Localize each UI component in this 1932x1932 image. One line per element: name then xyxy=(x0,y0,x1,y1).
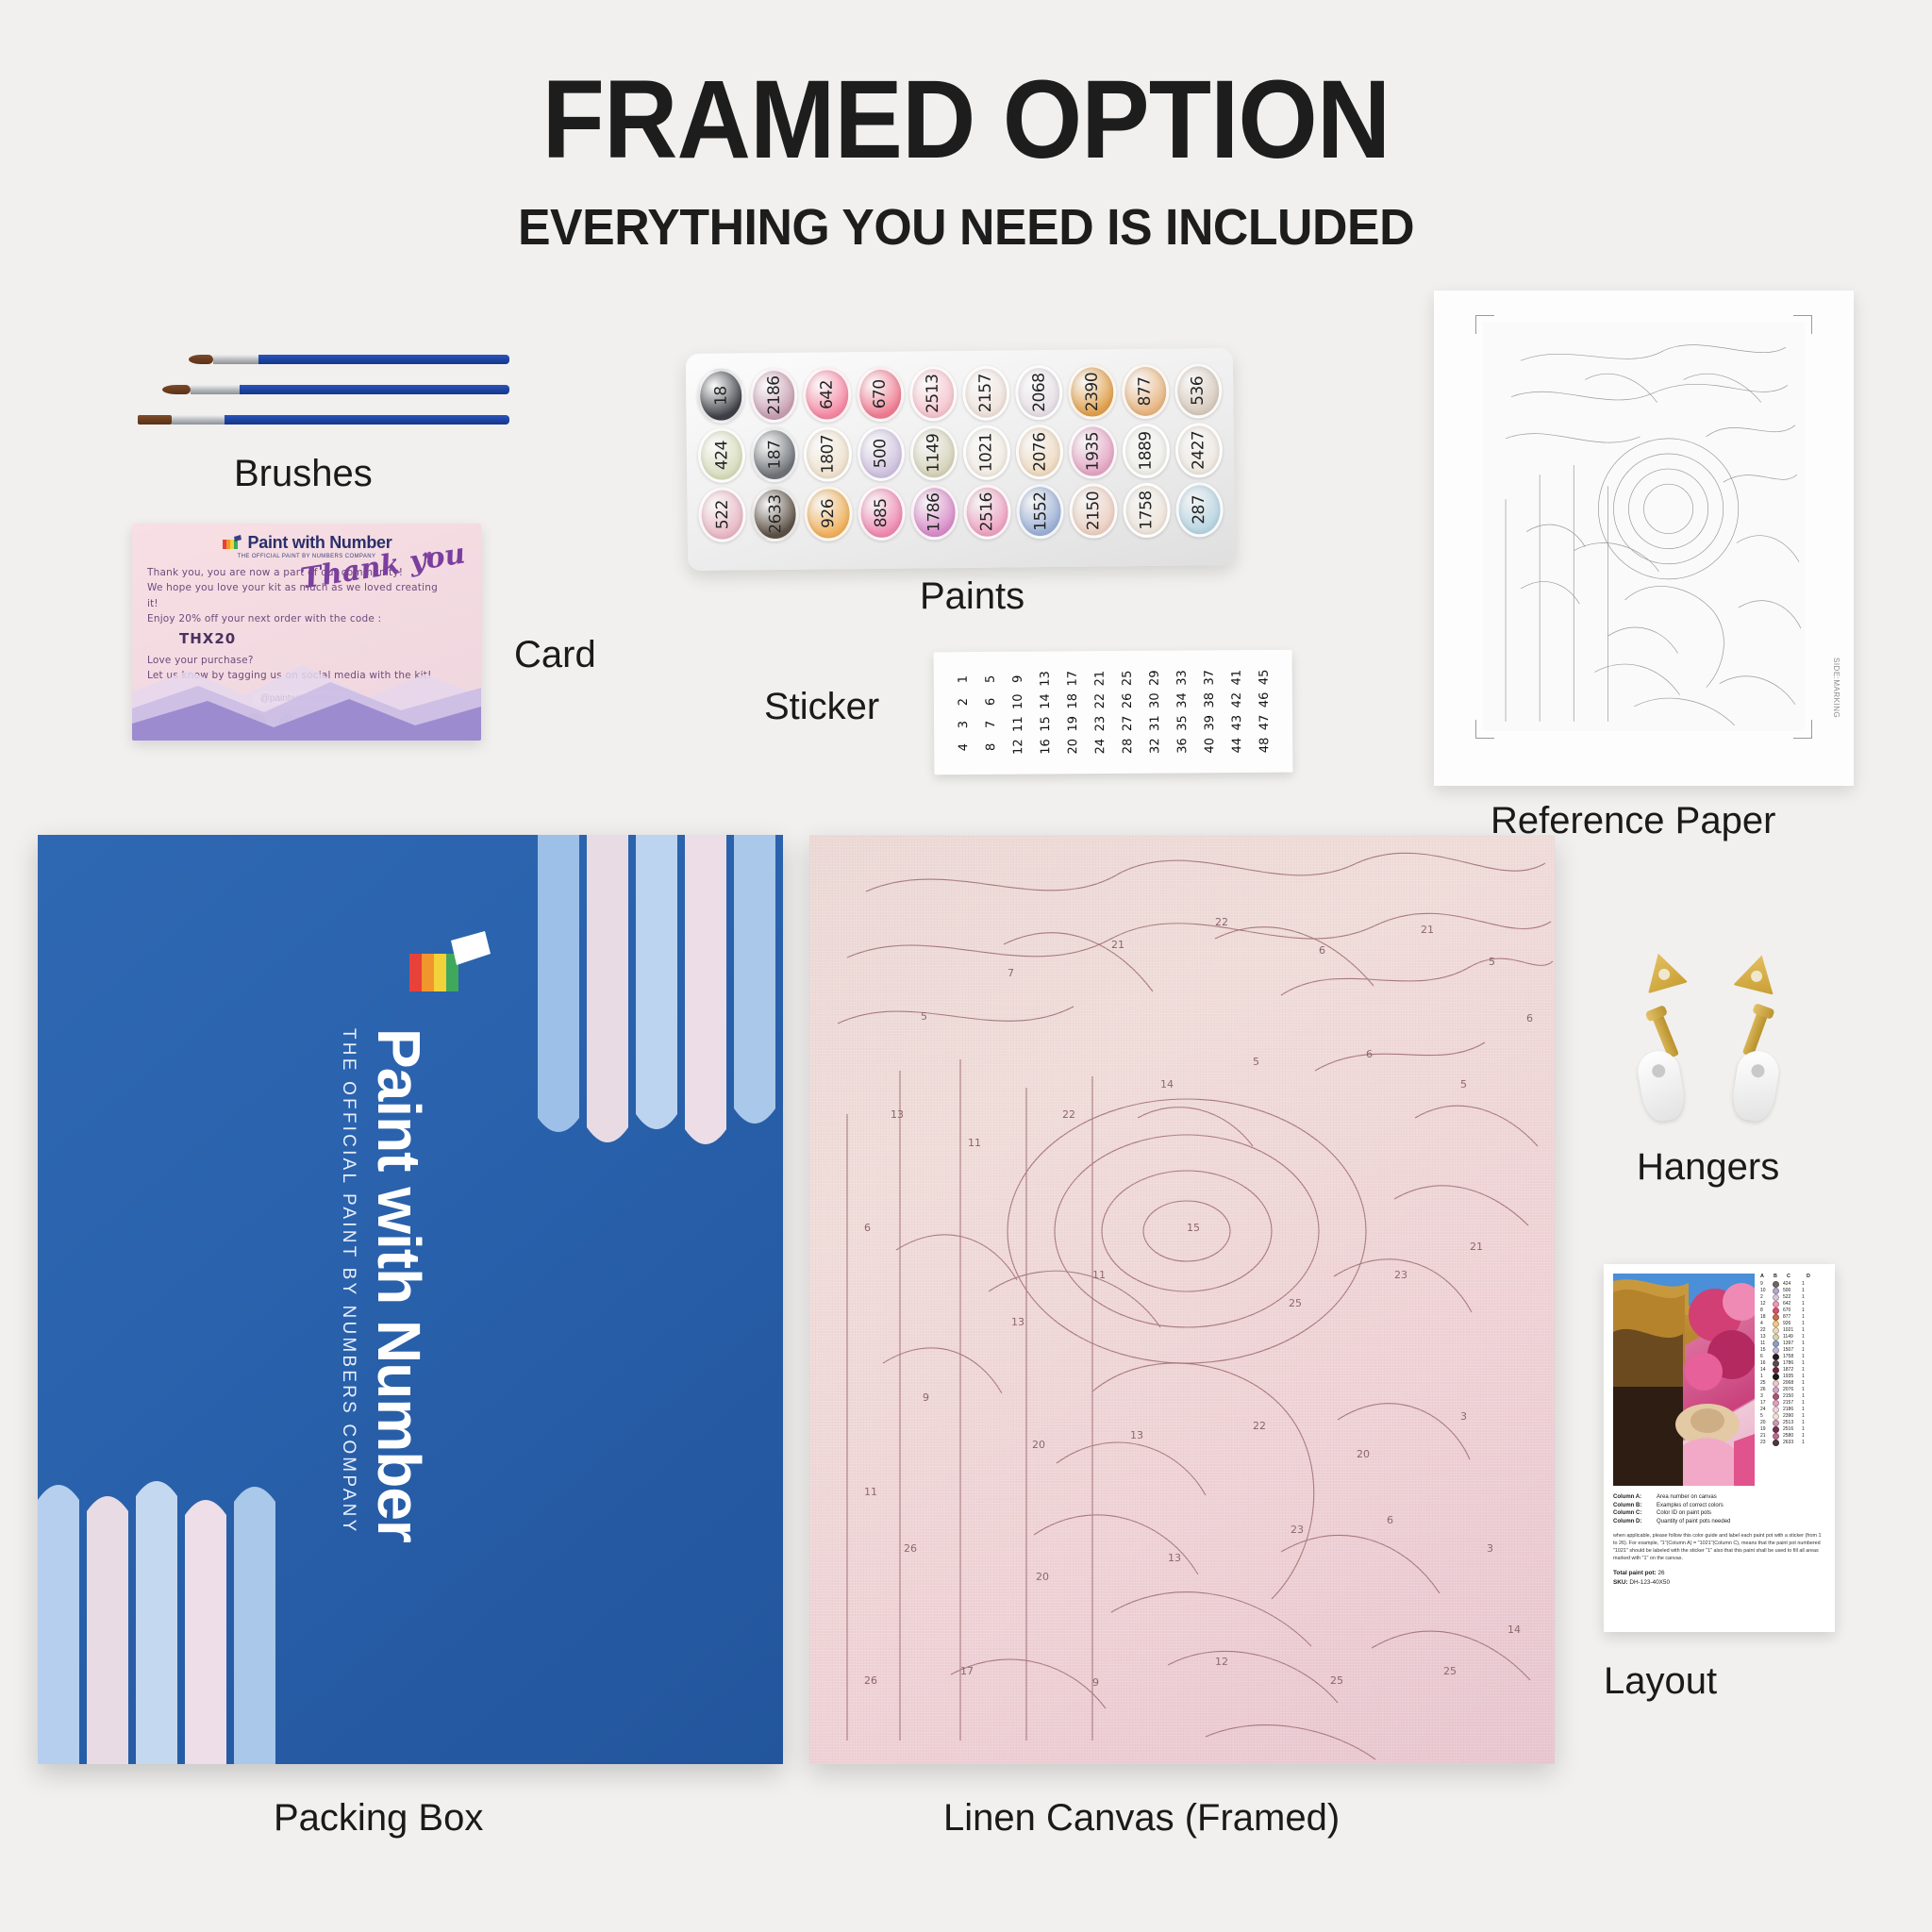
legend-quantity: 1 xyxy=(1802,1281,1805,1287)
layout-legend-row: 2421861 xyxy=(1760,1407,1825,1413)
legend-quantity: 1 xyxy=(1802,1440,1805,1445)
paint-pot-id: 1889 xyxy=(1136,431,1155,470)
sticker-sheet: 1234567891011121314151617181920212223242… xyxy=(934,650,1293,775)
legend-area-number: 4 xyxy=(1760,1321,1769,1326)
legend-quantity: 1 xyxy=(1802,1433,1805,1439)
brush-tip-icon xyxy=(138,415,172,425)
sticker-number: 18 xyxy=(1061,691,1082,711)
legend-color-id: 1872 xyxy=(1783,1367,1798,1373)
sticker-number: 38 xyxy=(1198,690,1219,710)
sticker-number: 20 xyxy=(1062,736,1083,757)
sticker-number: 42 xyxy=(1225,690,1246,710)
legend-color-id: 1149 xyxy=(1783,1334,1798,1340)
layout-legend-row: 523901 xyxy=(1760,1413,1825,1420)
canvas-linen-texture xyxy=(809,835,1555,1764)
paint-pot-id: 2068 xyxy=(1029,373,1048,411)
legend-area-number: 25 xyxy=(1760,1380,1769,1386)
legend-color-id: 2157 xyxy=(1783,1400,1798,1406)
layout-legend-row: 1515071 xyxy=(1760,1347,1825,1354)
sticker-number: 35 xyxy=(1172,712,1192,733)
sticker-number: 45 xyxy=(1253,667,1274,688)
paint-pot: 885 xyxy=(858,486,906,541)
sticker-number: 24 xyxy=(1090,736,1110,757)
paint-pot: 877 xyxy=(1122,364,1170,420)
paint-pot: 926 xyxy=(805,486,853,541)
sticker-number: 7 xyxy=(980,714,1001,735)
legend-color-swatch xyxy=(1773,1393,1779,1400)
legend-color-id: 1507 xyxy=(1783,1347,1798,1353)
paint-pot: 2157 xyxy=(962,365,1010,421)
layout-column-row: Column B:Examples of correct colors xyxy=(1613,1502,1825,1510)
legend-area-number: 23 xyxy=(1760,1440,1769,1445)
legend-area-number: 13 xyxy=(1760,1334,1769,1340)
legend-color-swatch xyxy=(1773,1367,1779,1374)
legend-color-id: 2076 xyxy=(1783,1387,1798,1392)
legend-area-number: 18 xyxy=(1760,1314,1769,1320)
caption-hangers: Hangers xyxy=(1637,1146,1779,1189)
paint-pot: 536 xyxy=(1174,363,1223,419)
hanger-screw-right xyxy=(1742,1008,1769,1057)
legend-color-id: 1935 xyxy=(1783,1374,1798,1379)
legend-quantity: 1 xyxy=(1802,1294,1805,1300)
legend-color-id: 1786 xyxy=(1783,1360,1798,1366)
layout-legend-row: 1925161 xyxy=(1760,1426,1825,1433)
legend-color-swatch xyxy=(1773,1281,1779,1288)
brush-small xyxy=(189,355,509,364)
sticker-number-grid: 1234567891011121314151617181920212223242… xyxy=(952,667,1274,758)
paint-pot-id: 1758 xyxy=(1137,491,1156,529)
legend-quantity: 1 xyxy=(1802,1327,1805,1333)
sticker-number: 10 xyxy=(1007,691,1027,712)
legend-header-a: A xyxy=(1760,1274,1769,1279)
paint-brush-logo-icon xyxy=(404,929,491,1016)
paint-pot-id: 1021 xyxy=(977,433,996,472)
legend-color-swatch xyxy=(1773,1380,1779,1387)
paint-pot: 287 xyxy=(1175,482,1224,538)
sticker-number: 1 xyxy=(952,669,973,690)
layout-total-label: Total paint pot: xyxy=(1613,1570,1657,1576)
linen-canvas: 5721 22621 5613 112214 565 151113 252321… xyxy=(809,835,1555,1764)
paint-pot-id: 2157 xyxy=(976,374,995,412)
legend-quantity: 1 xyxy=(1802,1374,1805,1379)
legend-color-swatch xyxy=(1773,1288,1779,1294)
paint-pot-id: 522 xyxy=(713,500,732,529)
caption-linen-canvas: Linen Canvas (Framed) xyxy=(943,1797,1340,1840)
legend-area-number: 3 xyxy=(1760,1393,1769,1399)
legend-area-number: 14 xyxy=(1760,1367,1769,1373)
layout-column-label: Column C: xyxy=(1613,1509,1653,1518)
legend-quantity: 1 xyxy=(1802,1413,1805,1419)
caption-packing-box: Packing Box xyxy=(274,1797,483,1840)
paint-row-3: 522263392688517862516155221501758287 xyxy=(698,482,1224,542)
legend-quantity: 1 xyxy=(1802,1334,1805,1340)
box-bottom-stripes xyxy=(38,1387,321,1764)
layout-artwork-thumbnail xyxy=(1613,1274,1755,1486)
paint-pot: 2076 xyxy=(1016,425,1064,480)
hanger-bracket-right xyxy=(1733,950,1782,995)
paint-pot: 1889 xyxy=(1122,424,1170,479)
paint-pot-id: 1786 xyxy=(924,493,943,532)
legend-quantity: 1 xyxy=(1802,1400,1805,1406)
paint-pot: 2516 xyxy=(963,484,1011,540)
sticker-number: 27 xyxy=(1117,713,1138,734)
sticker-number: 16 xyxy=(1035,736,1056,757)
brush-handle xyxy=(240,385,509,394)
brush-ferrule xyxy=(213,355,258,364)
sticker-number: 8 xyxy=(980,737,1001,758)
paint-pot-id: 2150 xyxy=(1084,491,1103,530)
legend-color-swatch xyxy=(1773,1321,1779,1327)
paint-pot-id: 287 xyxy=(1190,495,1208,525)
legend-color-swatch xyxy=(1773,1440,1779,1446)
sticker-number: 19 xyxy=(1062,713,1083,734)
thank-you-card: Paint with Number THE OFFICIAL PAINT BY … xyxy=(132,524,481,741)
layout-legend-row: 2125801 xyxy=(1760,1433,1825,1440)
page-subtitle: EVERYTHING YOU NEED IS INCLUDED xyxy=(39,198,1893,257)
legend-color-swatch xyxy=(1773,1400,1779,1407)
layout-legend-row: 2326331 xyxy=(1760,1440,1825,1446)
layout-column-label: Column A: xyxy=(1613,1493,1653,1502)
legend-header-d: D xyxy=(1807,1274,1813,1279)
brush-medium xyxy=(162,385,509,394)
legend-color-swatch xyxy=(1773,1374,1779,1380)
sticker-number: 4 xyxy=(953,737,974,758)
legend-color-id: 500 xyxy=(1783,1288,1798,1293)
paint-pot-id: 885 xyxy=(872,498,891,527)
sticker-number: 37 xyxy=(1198,667,1219,688)
legend-quantity: 1 xyxy=(1802,1341,1805,1346)
layout-column-desc: Quantity of paint pots needed xyxy=(1657,1518,1730,1526)
legend-area-number: 20 xyxy=(1760,1420,1769,1425)
sticker-number: 40 xyxy=(1199,735,1220,756)
layout-column-row: Column C:Color ID on paint pots xyxy=(1613,1509,1825,1518)
paint-pot-id: 670 xyxy=(871,379,890,408)
paint-pot: 2186 xyxy=(750,368,798,424)
paint-pot: 1758 xyxy=(1123,483,1171,539)
paint-pot-id: 2076 xyxy=(1030,432,1049,471)
brushes-group xyxy=(75,349,528,453)
layout-column-desc: Color ID on paint pots xyxy=(1657,1509,1711,1518)
caption-paints: Paints xyxy=(920,575,1024,618)
legend-color-swatch xyxy=(1773,1413,1779,1420)
paint-pot: 1021 xyxy=(963,425,1011,480)
paint-tray: 1821866426702513215720682390877536 42418… xyxy=(686,348,1235,571)
legend-color-id: 2186 xyxy=(1783,1407,1798,1412)
legend-color-swatch xyxy=(1773,1301,1779,1307)
reference-paper-artwork xyxy=(1483,323,1805,731)
legend-area-number: 24 xyxy=(1760,1407,1769,1412)
legend-color-id: 926 xyxy=(1783,1321,1798,1326)
brush-ferrule xyxy=(172,415,225,425)
brush-flat xyxy=(138,415,509,425)
layout-legend-row: 617581 xyxy=(1760,1354,1825,1360)
legend-color-swatch xyxy=(1773,1426,1779,1433)
sticker-number: 9 xyxy=(1007,669,1027,690)
sticker-number: 3 xyxy=(953,714,974,735)
paint-pot: 642 xyxy=(803,367,851,423)
layout-legend-row: 119351 xyxy=(1760,1374,1825,1380)
legend-area-number: 12 xyxy=(1760,1301,1769,1307)
layout-legend-row: 1311491 xyxy=(1760,1334,1825,1341)
header: FRAMED OPTION EVERYTHING YOU NEED IS INC… xyxy=(0,0,1932,257)
paint-pot: 2633 xyxy=(751,487,799,542)
legend-area-number: 17 xyxy=(1760,1400,1769,1406)
legend-area-number: 21 xyxy=(1760,1433,1769,1439)
sticker-number: 21 xyxy=(1089,668,1109,689)
caption-sticker: Sticker xyxy=(764,686,879,728)
sticker-number: 32 xyxy=(1144,736,1165,757)
caption-brushes: Brushes xyxy=(234,453,373,495)
paint-pot-id: 2186 xyxy=(764,375,783,414)
sticker-number: 28 xyxy=(1117,736,1138,757)
layout-column-row: Column D:Quantity of paint pots needed xyxy=(1613,1518,1825,1526)
sticker-number: 48 xyxy=(1254,735,1274,756)
paint-row-2: 4241871807500114910212076193518892427 xyxy=(698,423,1224,483)
legend-quantity: 1 xyxy=(1802,1321,1805,1326)
legend-color-swatch xyxy=(1773,1407,1779,1413)
hangers-group xyxy=(1637,953,1816,1132)
sticker-number: 30 xyxy=(1143,691,1164,711)
paint-pot-id: 536 xyxy=(1189,376,1207,406)
reference-paper-code: SIDE:MARKING xyxy=(1832,658,1840,718)
sticker-number: 47 xyxy=(1254,712,1274,733)
paint-pot: 500 xyxy=(857,426,905,482)
paint-pot-id: 1552 xyxy=(1031,491,1050,530)
page-title: FRAMED OPTION xyxy=(77,64,1855,175)
hanger-hook-left xyxy=(1635,1048,1688,1124)
legend-color-id: 2633 xyxy=(1783,1440,1798,1445)
layout-instructions: when applicable, please follow this colo… xyxy=(1613,1532,1825,1562)
layout-legend-row: 126421 xyxy=(1760,1301,1825,1307)
paint-pot-id: 500 xyxy=(871,439,890,468)
paint-pot: 1807 xyxy=(804,426,852,482)
layout-sku-label: SKU: xyxy=(1613,1579,1628,1586)
legend-quantity: 1 xyxy=(1802,1387,1805,1392)
brush-tip-icon xyxy=(162,385,191,394)
sticker-number: 14 xyxy=(1034,691,1055,711)
paint-row-1: 1821866426702513215720682390877536 xyxy=(697,363,1223,424)
paint-pot-id: 2633 xyxy=(766,494,785,533)
layout-legend-row: 1113971 xyxy=(1760,1341,1825,1347)
layout-sku-row: SKU: DH-123-40X50 xyxy=(1613,1578,1825,1588)
layout-column-label: Column D: xyxy=(1613,1518,1653,1526)
paint-pot-id: 18 xyxy=(711,386,730,406)
layout-legend-headers: A B C D xyxy=(1760,1274,1825,1279)
legend-color-id: 1758 xyxy=(1783,1354,1798,1359)
layout-column-row: Column A:Area number on canvas xyxy=(1613,1493,1825,1502)
sticker-number: 26 xyxy=(1116,691,1137,711)
sticker-number: 5 xyxy=(979,669,1000,690)
card-brand-name: Paint with Number xyxy=(248,533,392,553)
paint-pot: 2068 xyxy=(1015,365,1063,421)
legend-color-swatch xyxy=(1773,1354,1779,1360)
paint-pot: 1786 xyxy=(910,485,958,541)
sticker-number: 29 xyxy=(1143,668,1164,689)
legend-color-id: 2068 xyxy=(1783,1380,1798,1386)
reference-paper: SIDE:MARKING xyxy=(1434,291,1854,786)
legend-color-id: 2513 xyxy=(1783,1420,1798,1425)
paint-pot: 187 xyxy=(751,427,799,483)
legend-color-id: 2390 xyxy=(1783,1413,1798,1419)
legend-color-id: 1021 xyxy=(1783,1327,1798,1333)
layout-column-label: Column B: xyxy=(1613,1502,1653,1510)
layout-legend-row: 1617861 xyxy=(1760,1360,1825,1367)
legend-color-id: 424 xyxy=(1783,1281,1798,1287)
legend-area-number: 1 xyxy=(1760,1374,1769,1379)
paint-pot-id: 877 xyxy=(1136,376,1155,406)
legend-quantity: 1 xyxy=(1802,1354,1805,1359)
paint-pot-id: 2516 xyxy=(977,492,996,531)
paint-pot: 1935 xyxy=(1069,424,1117,479)
layout-legend-row: 1721571 xyxy=(1760,1400,1825,1407)
card-line-4: Enjoy 20% off your next order with the c… xyxy=(147,611,466,626)
layout-legend-row: 1418721 xyxy=(1760,1367,1825,1374)
legend-quantity: 1 xyxy=(1802,1380,1805,1386)
paint-pot: 2150 xyxy=(1070,483,1118,539)
legend-quantity: 1 xyxy=(1802,1367,1805,1373)
paint-pot: 2427 xyxy=(1174,423,1223,478)
legend-color-swatch xyxy=(1773,1341,1779,1347)
legend-area-number: 10 xyxy=(1760,1288,1769,1293)
sticker-number: 34 xyxy=(1171,690,1191,710)
sticker-number: 39 xyxy=(1199,712,1220,733)
legend-color-swatch xyxy=(1773,1334,1779,1341)
legend-quantity: 1 xyxy=(1802,1393,1805,1399)
box-brand-name: Paint with Number xyxy=(364,1028,434,1542)
legend-area-number: 2 xyxy=(1760,1294,1769,1300)
legend-quantity: 1 xyxy=(1802,1420,1805,1425)
layout-column-desc: Area number on canvas xyxy=(1657,1493,1717,1502)
legend-quantity: 1 xyxy=(1802,1288,1805,1293)
paint-pot-id: 1149 xyxy=(924,434,943,473)
layout-legend-row: 2210211 xyxy=(1760,1327,1825,1334)
brush-handle xyxy=(225,415,509,425)
sticker-number: 12 xyxy=(1008,737,1028,758)
legend-color-swatch xyxy=(1773,1360,1779,1367)
paint-pot-id: 2427 xyxy=(1190,431,1208,470)
legend-color-id: 2150 xyxy=(1783,1393,1798,1399)
paint-pot-id: 926 xyxy=(819,499,838,528)
legend-color-swatch xyxy=(1773,1347,1779,1354)
layout-legend-row: 105001 xyxy=(1760,1288,1825,1294)
brush-handle xyxy=(258,355,509,364)
legend-quantity: 1 xyxy=(1802,1301,1805,1307)
layout-legend-row: 2520681 xyxy=(1760,1380,1825,1387)
sticker-number: 23 xyxy=(1090,713,1110,734)
sticker-number: 44 xyxy=(1226,735,1247,756)
brush-tip-icon xyxy=(189,355,213,364)
legend-color-swatch xyxy=(1773,1433,1779,1440)
layout-total-value: 26 xyxy=(1657,1570,1664,1576)
legend-color-swatch xyxy=(1773,1387,1779,1393)
legend-quantity: 1 xyxy=(1802,1407,1805,1412)
box-top-stripes xyxy=(538,835,783,1193)
paint-brush-logo-icon xyxy=(222,534,242,553)
legend-area-number: 16 xyxy=(1760,1360,1769,1366)
sticker-number: 31 xyxy=(1144,713,1165,734)
legend-color-id: 2580 xyxy=(1783,1433,1798,1439)
card-mountain-art xyxy=(132,654,481,741)
layout-legend-row: 94241 xyxy=(1760,1281,1825,1288)
caption-layout: Layout xyxy=(1604,1660,1717,1703)
legend-color-id: 2516 xyxy=(1783,1426,1798,1432)
paint-pot-id: 187 xyxy=(765,440,784,469)
legend-area-number: 26 xyxy=(1760,1387,1769,1392)
layout-legend-row: 2025131 xyxy=(1760,1420,1825,1426)
legend-area-number: 19 xyxy=(1760,1426,1769,1432)
layout-top: A B C D 94241105001252211264218670118877… xyxy=(1613,1274,1825,1486)
card-discount-code: THX20 xyxy=(179,630,466,647)
legend-quantity: 1 xyxy=(1802,1426,1805,1432)
legend-area-number: 11 xyxy=(1760,1341,1769,1346)
legend-color-id: 670 xyxy=(1783,1307,1798,1313)
paint-pot-id: 642 xyxy=(818,380,837,409)
card-line-3: it! xyxy=(147,596,466,611)
layout-legend-row: 188771 xyxy=(1760,1314,1825,1321)
paint-pot: 1149 xyxy=(909,425,958,481)
paint-pot: 1552 xyxy=(1016,484,1064,540)
layout-color-legend: A B C D 94241105001252211264218670118877… xyxy=(1760,1274,1825,1486)
layout-legend-row: 2620761 xyxy=(1760,1387,1825,1393)
legend-area-number: 8 xyxy=(1760,1307,1769,1313)
legend-color-id: 642 xyxy=(1783,1301,1798,1307)
sticker-number: 17 xyxy=(1061,668,1082,689)
sticker-number: 6 xyxy=(979,691,1000,712)
box-brand-tagline: THE OFFICIAL PAINT BY NUMBERS COMPANY xyxy=(338,1028,358,1542)
paint-pot: 2390 xyxy=(1068,364,1116,420)
legend-quantity: 1 xyxy=(1802,1360,1805,1366)
hanger-bracket-left xyxy=(1639,948,1689,994)
box-brand-block: Paint with Number THE OFFICIAL PAINT BY … xyxy=(338,1028,434,1542)
paint-pot-id: 2513 xyxy=(924,375,942,413)
paint-pot: 522 xyxy=(698,487,746,542)
sticker-number: 46 xyxy=(1253,690,1274,710)
legend-area-number: 9 xyxy=(1760,1281,1769,1287)
sticker-number: 36 xyxy=(1172,735,1192,756)
paint-pot-id: 1807 xyxy=(818,435,837,474)
paint-pot: 424 xyxy=(698,427,746,483)
legend-area-number: 15 xyxy=(1760,1347,1769,1353)
legend-quantity: 1 xyxy=(1802,1307,1805,1313)
legend-quantity: 1 xyxy=(1802,1347,1805,1353)
caption-card: Card xyxy=(514,634,596,676)
brush-ferrule xyxy=(191,385,240,394)
layout-legend-row: 321501 xyxy=(1760,1393,1825,1400)
legend-area-number: 5 xyxy=(1760,1413,1769,1419)
legend-color-swatch xyxy=(1773,1307,1779,1314)
layout-sku-value: DH-123-40X50 xyxy=(1629,1579,1670,1586)
paint-pot: 18 xyxy=(697,368,745,424)
sticker-number: 43 xyxy=(1226,712,1247,733)
sticker-number: 13 xyxy=(1034,668,1055,689)
legend-header-b: B xyxy=(1774,1274,1782,1279)
layout-legend-row: 86701 xyxy=(1760,1307,1825,1314)
legend-quantity: 1 xyxy=(1802,1314,1805,1320)
legend-color-id: 522 xyxy=(1783,1294,1798,1300)
hanger-hook-right xyxy=(1729,1048,1781,1124)
paint-pot-id: 1935 xyxy=(1083,432,1102,471)
sticker-number: 2 xyxy=(952,691,973,712)
sticker-number: 11 xyxy=(1008,714,1028,735)
layout-total-row: Total paint pot: 26 xyxy=(1613,1569,1825,1578)
legend-color-id: 1397 xyxy=(1783,1341,1798,1346)
paint-pot: 2513 xyxy=(909,366,958,422)
legend-header-c: C xyxy=(1787,1274,1802,1279)
layout-column-desc: Examples of correct colors xyxy=(1657,1502,1724,1510)
sticker-number: 25 xyxy=(1116,668,1137,689)
layout-legend-row: 49261 xyxy=(1760,1321,1825,1327)
legend-color-id: 877 xyxy=(1783,1314,1798,1320)
